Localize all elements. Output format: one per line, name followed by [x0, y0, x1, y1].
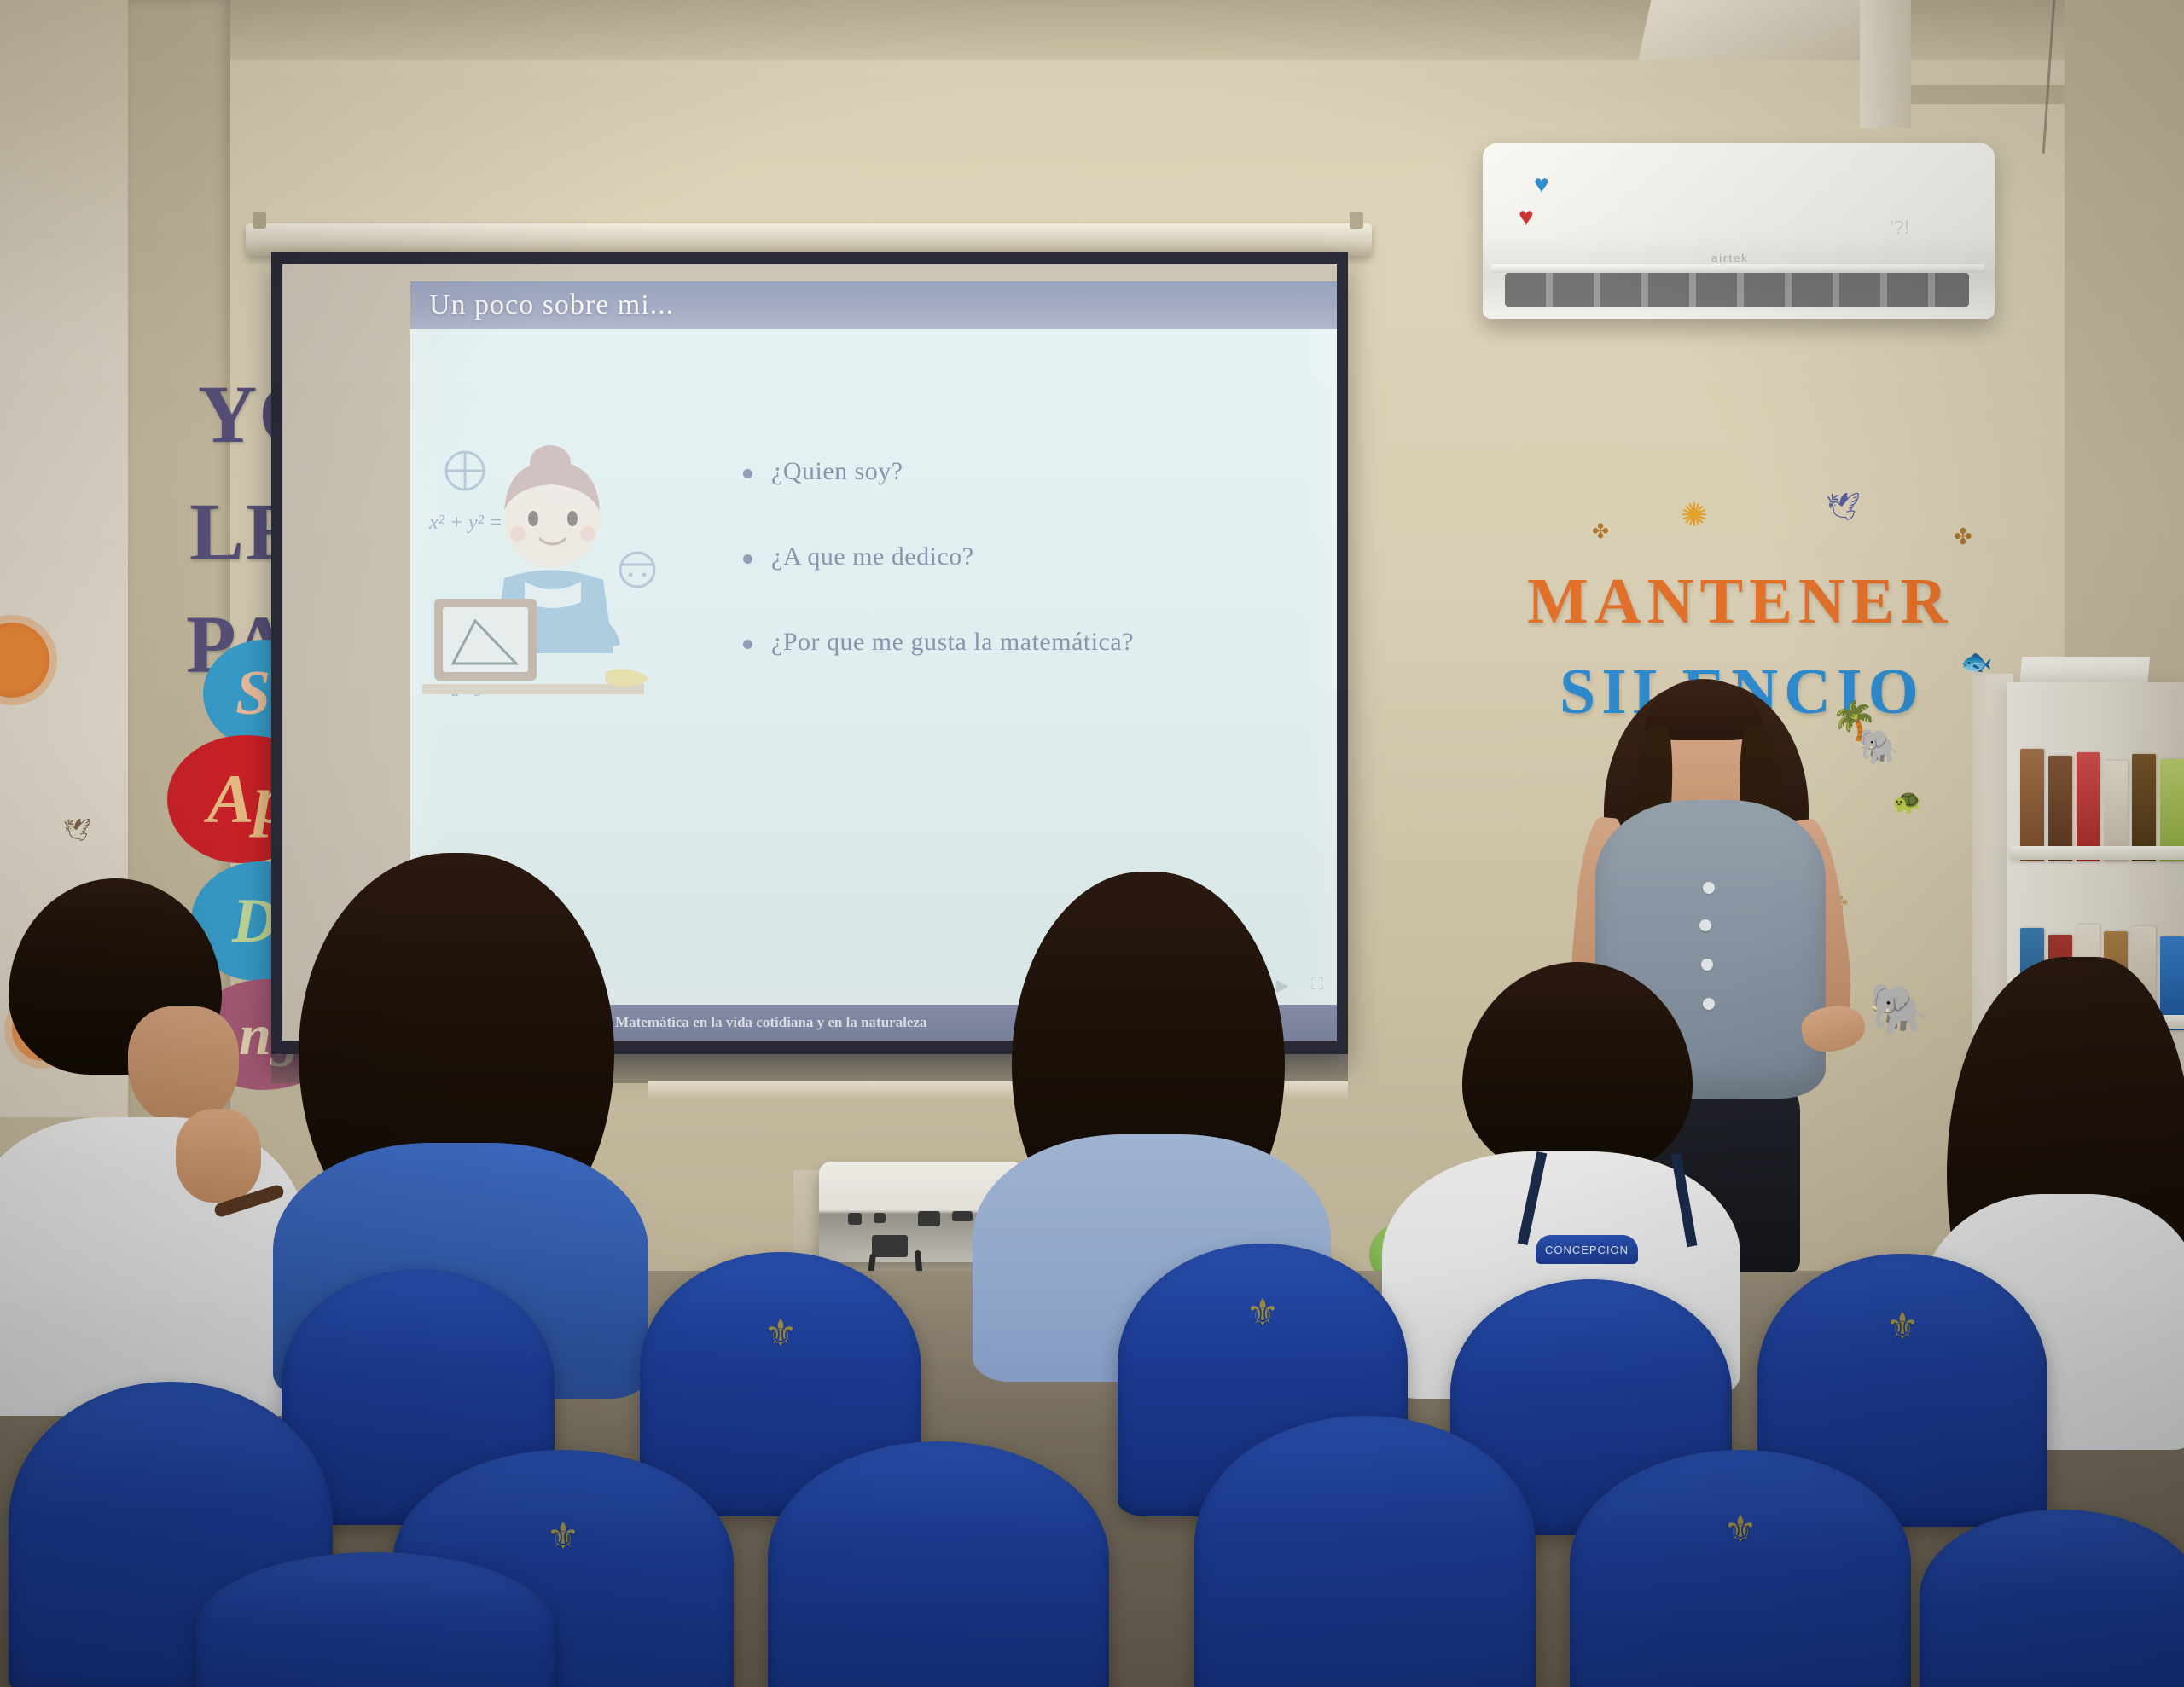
bookshelf-lip: [2010, 846, 2184, 860]
blue-heart-sticker: ♥: [1534, 172, 1549, 198]
bird-sticker: 🕊: [1826, 493, 1861, 520]
bullet-dot-icon: [743, 554, 752, 564]
bullet-dot-icon: [743, 640, 752, 649]
book-item: [2077, 752, 2100, 861]
shirt-button: [1703, 998, 1715, 1010]
next-slide-icon[interactable]: ▶: [1276, 975, 1289, 996]
bird-sticker: ✤: [1954, 525, 1972, 548]
student-face: [128, 1006, 239, 1126]
slide-title: Un poco sobre mi...: [429, 289, 674, 322]
chair[interactable]: ⚜: [1570, 1450, 1911, 1687]
shirt-button: [1701, 959, 1713, 971]
wall-sign-mantener: MANTENER: [1527, 565, 1953, 639]
butterfly-sticker: ✤: [1592, 522, 1609, 542]
slide-bullet-item: ¿A que me dedico?: [743, 542, 1320, 571]
slide-bullet-item: ¿Por que me gusta la matemática?: [743, 628, 1320, 657]
slide-footer-subject: Matemática en la vida cotidiana y en la …: [615, 1014, 926, 1031]
screen-roller-housing: [246, 223, 1372, 256]
golden-winged-crest-emblem: ⚜: [764, 1315, 797, 1353]
bird-sticker: 🕊: [63, 819, 91, 841]
slide-bullet-text: ¿A que me dedico?: [771, 542, 974, 571]
elephant-sticker: 🐘: [1858, 730, 1901, 764]
chair[interactable]: [768, 1441, 1109, 1687]
student-shirt: [0, 1117, 307, 1416]
chair[interactable]: [1194, 1416, 1536, 1687]
shirt-button: [1703, 882, 1715, 894]
lanyard-text: CONCEPCION: [1545, 1244, 1629, 1256]
blue-elephant-sticker: 🐘: [1868, 981, 1930, 1039]
golden-winged-crest-emblem: ⚜: [546, 1518, 579, 1556]
slide-bullet-item: ¿Quien soy?: [743, 457, 1320, 486]
ac-front-shelf: [1491, 264, 1984, 273]
classroom-photo-scene: YO LE PA Se Ap Di ng 🕊 Un poco sobre mi.…: [0, 0, 2184, 1687]
sun-sticker: ✺: [1681, 500, 1708, 532]
shirt-button: [1699, 919, 1711, 931]
chair[interactable]: [1920, 1510, 2184, 1687]
slide-bullet-text: ¿Quien soy?: [771, 457, 903, 486]
slide-title-bar: Un poco sobre mi...: [410, 281, 1337, 329]
ac-air-grille: [1505, 273, 1969, 307]
ac-display-icon: '?!: [1890, 217, 1909, 239]
ac-brand-label: airtek: [1711, 252, 1749, 264]
wall-mounted-split-ac: ♥ ♥ '?! airtek: [1483, 143, 1995, 319]
fish-sticker: 🐟: [1960, 650, 1992, 675]
student-hand: [176, 1109, 261, 1203]
fullscreen-icon[interactable]: ⛶: [1311, 975, 1323, 996]
turtle-sticker: 🐢: [1892, 790, 1922, 814]
ceiling-panel: [1638, 0, 1876, 60]
golden-winged-crest-emblem: ⚜: [1246, 1295, 1279, 1332]
bookshelf-row: [2015, 733, 2184, 861]
student-lanyard: CONCEPCION: [1536, 1235, 1638, 1264]
ceiling-beam: [1860, 0, 1911, 128]
red-heart-sticker: ♥: [1519, 205, 1534, 230]
bullet-dot-icon: [743, 469, 752, 478]
golden-winged-crest-emblem: ⚜: [1885, 1308, 1919, 1346]
slide-bullet-list: ¿Quien soy? ¿A que me dedico? ¿Por que m…: [743, 457, 1320, 713]
slide-bullet-text: ¿Por que me gusta la matemática?: [771, 628, 1134, 657]
book-item: [2020, 749, 2044, 861]
golden-winged-crest-emblem: ⚜: [1723, 1511, 1757, 1549]
girl-with-blackboard-math-illustration: x² + y² = ?: [422, 440, 704, 713]
